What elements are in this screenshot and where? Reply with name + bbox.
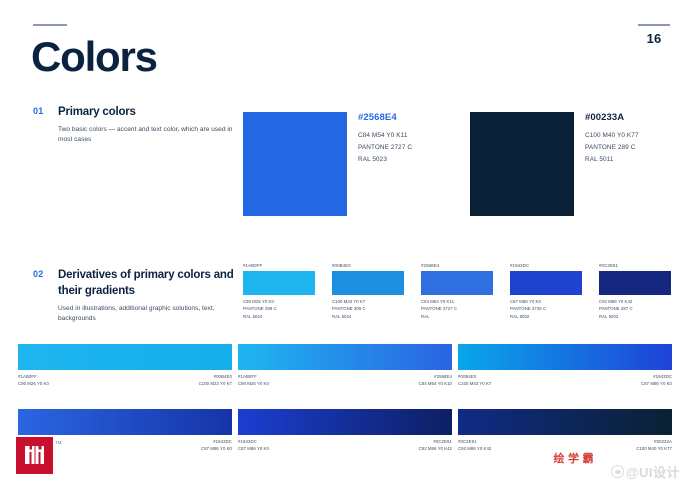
gradient-card: #00B4E0C100 M43 Y0 K7#1943DCC87 M86 Y0 K… <box>458 344 672 390</box>
primary-color-cmyk: C84 M54 Y0 K11 <box>358 130 468 142</box>
gradient-labels: #1943DCC87 M86 Y0 K0#0C2E91C92 M86 Y0 K4… <box>238 439 452 455</box>
primary-color-info: #00233A C100 M40 Y0 K77 PANTONE 289 C RA… <box>585 112 690 166</box>
watermark-handle: @UI设计 <box>611 462 680 481</box>
derivative-color-card: #1943DCC87 M86 Y0 K0PANTONE 2728 CRAL 50… <box>510 263 582 321</box>
gradient-stop-left: #1AB0FFC90 M26 Y0 K0 <box>18 374 49 386</box>
derivative-color-swatch <box>421 271 493 295</box>
gradient-stop-cmyk: C84 M54 Y0 K10 <box>419 381 452 386</box>
gradient-stop-left: #00B4E0C100 M43 Y0 K7 <box>458 374 491 386</box>
derivative-color-cmyk: C100 M43 Y0 K7 <box>332 298 404 306</box>
derivative-color-pantone: PANTONE 2728 C <box>510 305 582 313</box>
section-description: Used in illustrations, additional graphi… <box>58 304 233 324</box>
derivative-color-pantone: PANTONE 298 C <box>243 305 315 313</box>
derivative-color-card: #0C2E91C92 M86 Y0 K42PANTONE 287 CRAL 50… <box>599 263 671 321</box>
primary-color-ral: RAL 5011 <box>585 154 690 166</box>
derivative-color-specs: C100 M43 Y0 K7PANTONE 306 CRAL 5024 <box>332 298 404 322</box>
primary-color-card: #2568E4 C84 M54 Y0 K11 PANTONE 2727 C RA… <box>243 112 473 222</box>
gradient-stop-cmyk: C90 M26 Y0 K0 <box>238 381 269 386</box>
gradient-stop-hex: #0C2E91 <box>419 439 452 444</box>
gradient-bar <box>18 409 232 435</box>
gradient-stop-left: #1AB0FFC90 M26 Y0 K0 <box>238 374 269 386</box>
derivative-swatch-row: #1AB0FFC90 M26 Y0 K0PANTONE 298 CRAL 502… <box>243 263 673 325</box>
derivative-color-ral: RAL 5002 <box>599 313 671 321</box>
primary-color-info: #2568E4 C84 M54 Y0 K11 PANTONE 2727 C RA… <box>358 112 468 166</box>
gradient-stop-cmyk: C87 M86 Y0 K0 <box>201 446 232 451</box>
gradient-bar <box>458 409 672 435</box>
title-rule <box>33 24 67 26</box>
derivative-color-hex: #1943DC <box>510 263 582 268</box>
watermark-brand: 绘学霸 <box>554 450 598 466</box>
derivative-color-pantone: PANTONE 306 C <box>332 305 404 313</box>
derivative-color-hex: #0C2E91 <box>599 263 671 268</box>
gradient-stop-hex: #2568E4 <box>419 374 452 379</box>
derivative-color-specs: C92 M86 Y0 K42PANTONE 287 CRAL 5002 <box>599 298 671 322</box>
watermark-handle-text: @UI设计 <box>626 462 680 481</box>
derivative-color-pantone: PANTONE 287 C <box>599 305 671 313</box>
gradient-card: #0C2E91C92 M86 Y0 K42#00233AC100 M40 Y0 … <box>458 409 672 455</box>
gradient-card: #1AB0FFC90 M26 Y0 K0#2568E4C84 M54 Y0 K1… <box>238 344 452 390</box>
gradient-stop-hex: #1943DC <box>238 439 269 444</box>
gradient-stop-hex: #00B4E0 <box>458 374 491 379</box>
gradient-stop-right: #0C2E91C92 M86 Y0 K42 <box>419 439 452 451</box>
gradient-bar <box>238 344 452 370</box>
gradient-stop-hex: #00B4E0 <box>199 374 232 379</box>
primary-color-card: #00233A C100 M40 Y0 K77 PANTONE 289 C RA… <box>470 112 690 222</box>
derivative-color-ral: RAL 5024 <box>332 313 404 321</box>
derivative-color-cmyk: C87 M86 Y0 K0 <box>510 298 582 306</box>
primary-color-pantone: PANTONE 289 C <box>585 142 690 154</box>
gradient-bar <box>458 344 672 370</box>
derivative-color-ral: RAL 5002 <box>510 313 582 321</box>
derivative-color-swatch <box>332 271 404 295</box>
gradient-stop-cmyk: C100 M40 Y0 K77 <box>636 446 672 451</box>
derivative-color-pantone: PANTONE 2727 C <box>421 305 493 313</box>
derivative-color-specs: C87 M86 Y0 K0PANTONE 2728 CRAL 5002 <box>510 298 582 322</box>
gradient-stop-hex: #1943DC <box>201 439 232 444</box>
derivative-color-cmyk: C84 M54 Y0 K11 <box>421 298 493 306</box>
weibo-icon <box>611 465 624 478</box>
gradient-stop-cmyk: C90 M26 Y0 K0 <box>18 381 49 386</box>
primary-color-swatch <box>243 112 347 216</box>
slide-page: 16 Colors 01 Primary colors Two basic co… <box>0 0 690 487</box>
gradient-stop-right: #1943DCC87 M86 Y0 K0 <box>201 439 232 451</box>
primary-color-ral: RAL 5023 <box>358 154 468 166</box>
gradient-stop-right: #2568E4C84 M54 Y0 K10 <box>419 374 452 386</box>
primary-color-hex: #2568E4 <box>358 112 468 123</box>
section-title: Derivatives of primary colors and their … <box>58 268 238 299</box>
gradient-stop-cmyk: C92 M86 Y0 K42 <box>419 446 452 451</box>
section-description: Two basic colors — accent and text color… <box>58 125 233 145</box>
gradient-stop-hex: #0C2E91 <box>458 439 491 444</box>
primary-color-pantone: PANTONE 2727 C <box>358 142 468 154</box>
section-primary-colors: 01 Primary colors Two basic colors — acc… <box>33 105 233 165</box>
gradient-bar <box>238 409 452 435</box>
derivative-color-card: #00B4E0C100 M43 Y0 K7PANTONE 306 CRAL 50… <box>332 263 404 321</box>
gradient-bar <box>18 344 232 370</box>
brand-logo <box>16 437 53 474</box>
derivative-color-hex: #1AB0FF <box>243 263 315 268</box>
gradient-card: #1AB0FFC90 M26 Y0 K0#00B4E0C100 M23 Y0 K… <box>18 344 232 390</box>
derivative-color-swatch <box>243 271 315 295</box>
section-number: 01 <box>33 106 44 116</box>
derivative-color-hex: #2568E4 <box>421 263 493 268</box>
page-number-rule <box>638 24 670 26</box>
derivative-color-ral: RAL <box>421 313 493 321</box>
gradient-stop-cmyk: C100 M43 Y0 K7 <box>458 381 491 386</box>
derivative-color-specs: C90 M26 Y0 K0PANTONE 298 CRAL 5024 <box>243 298 315 322</box>
page-number: 16 <box>638 31 670 46</box>
page-title: Colors <box>31 36 157 78</box>
derivative-color-swatch <box>599 271 671 295</box>
gradient-stop-right: #1943DCC87 M86 Y0 K0 <box>641 374 672 386</box>
section-number: 02 <box>33 269 44 279</box>
gradient-stop-right: #00233AC100 M40 Y0 K77 <box>636 439 672 451</box>
derivative-color-cmyk: C90 M26 Y0 K0 <box>243 298 315 306</box>
gradient-stop-hex: #1AB0FF <box>238 374 269 379</box>
derivative-color-specs: C84 M54 Y0 K11PANTONE 2727 CRAL <box>421 298 493 322</box>
gradient-stop-hex: #1943DC <box>641 374 672 379</box>
gradient-stop-cmyk: C100 M23 Y0 K7 <box>199 381 232 386</box>
gradient-stop-hex: #00233A <box>636 439 672 444</box>
section-title: Primary colors <box>58 105 238 121</box>
primary-color-swatch <box>470 112 574 216</box>
derivative-color-card: #2568E4C84 M54 Y0 K11PANTONE 2727 CRAL <box>421 263 493 321</box>
gradient-stop-cmyk: C87 M86 Y0 K0 <box>641 381 672 386</box>
gradient-card: #1943DCC87 M86 Y0 K0#0C2E91C92 M86 Y0 K4… <box>238 409 452 455</box>
derivative-color-hex: #00B4E0 <box>332 263 404 268</box>
primary-color-hex: #00233A <box>585 112 690 123</box>
gradient-stop-left: #0C2E91C92 M86 Y0 K42 <box>458 439 491 451</box>
gradient-stop-cmyk: C92 M86 Y0 K42 <box>458 446 491 451</box>
gradient-stop-left: #1943DCC87 M86 Y0 K0 <box>238 439 269 451</box>
derivative-color-swatch <box>510 271 582 295</box>
gradient-stop-hex: #1AB0FF <box>18 374 49 379</box>
gradient-labels: #1AB0FFC90 M26 Y0 K0#00B4E0C100 M23 Y0 K… <box>18 374 232 390</box>
gradient-stop-right: #00B4E0C100 M23 Y0 K7 <box>199 374 232 386</box>
section-derivative-colors: 02 Derivatives of primary colors and the… <box>33 268 233 338</box>
primary-color-cmyk: C100 M40 Y0 K77 <box>585 130 690 142</box>
derivative-color-cmyk: C92 M86 Y0 K42 <box>599 298 671 306</box>
derivative-color-ral: RAL 5024 <box>243 313 315 321</box>
derivative-color-card: #1AB0FFC90 M26 Y0 K0PANTONE 298 CRAL 502… <box>243 263 315 321</box>
gradient-labels: #1AB0FFC90 M26 Y0 K0#2568E4C84 M54 Y0 K1… <box>238 374 452 390</box>
gradient-labels: #00B4E0C100 M43 Y0 K7#1943DCC87 M86 Y0 K… <box>458 374 672 390</box>
logo-trademark: TM <box>55 440 62 445</box>
gradient-stop-cmyk: C87 M86 Y0 K0 <box>238 446 269 451</box>
